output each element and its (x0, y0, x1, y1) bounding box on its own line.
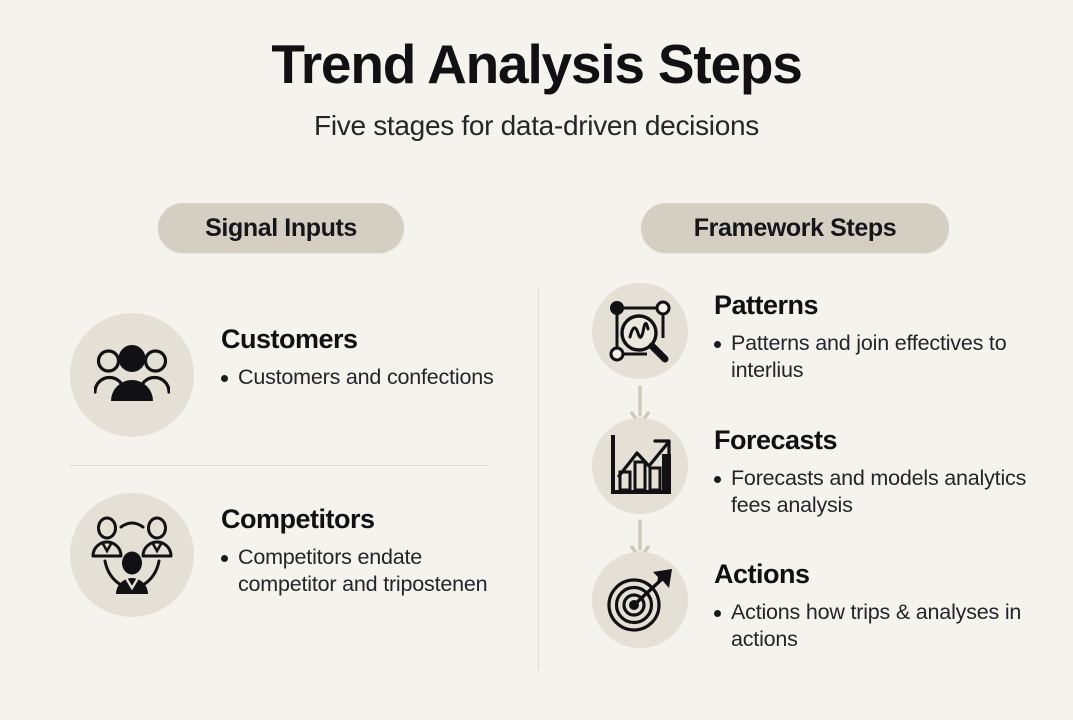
column-divider (538, 288, 539, 670)
header: Trend Analysis Steps Five stages for dat… (0, 36, 1073, 142)
item-text-block: Customers Customers and confections (221, 313, 494, 391)
list-item-actions[interactable]: Actions Actions how trips & analyses in … (592, 552, 1052, 653)
item-bullet-text: Forecasts and models analytics fees anal… (731, 465, 1052, 520)
page-subtitle: Five stages for data-driven decisions (0, 110, 1073, 142)
item-bullet-text: Patterns and join effectives to interliu… (731, 330, 1052, 385)
list-item-forecasts[interactable]: Forecasts Forecasts and models analytics… (592, 418, 1052, 519)
bullet-row: Customers and confections (221, 364, 494, 391)
section-pill-label: Signal Inputs (205, 214, 357, 243)
section-pill-label: Framework Steps (694, 214, 896, 243)
item-bullet-text: Actions how trips & analyses in actions (731, 599, 1052, 654)
bullet-dot-icon (714, 341, 721, 348)
left-column-item-divider (70, 465, 488, 466)
icon-badge (70, 313, 194, 437)
item-bullet-text: Competitors endate competitor and tripos… (238, 544, 510, 599)
item-heading: Customers (221, 325, 494, 355)
item-text-block: Patterns Patterns and join effectives to… (714, 283, 1052, 384)
item-heading: Actions (714, 560, 1052, 590)
target-arrow-icon (606, 567, 674, 633)
bullet-dot-icon (714, 610, 721, 617)
item-heading: Forecasts (714, 426, 1052, 456)
people-group-icon (94, 344, 170, 406)
list-item-customers[interactable]: Customers Customers and confections (70, 313, 510, 437)
icon-badge (70, 493, 194, 617)
list-item-patterns[interactable]: Patterns Patterns and join effectives to… (592, 283, 1052, 384)
bullet-row: Forecasts and models analytics fees anal… (714, 465, 1052, 520)
item-heading: Patterns (714, 291, 1052, 321)
network-magnifier-icon (607, 298, 673, 364)
section-pill-framework-steps[interactable]: Framework Steps (641, 203, 949, 253)
bullet-dot-icon (221, 375, 228, 382)
bar-chart-trend-icon (607, 434, 673, 498)
bullet-row: Patterns and join effectives to interliu… (714, 330, 1052, 385)
infographic-canvas: Trend Analysis Steps Five stages for dat… (0, 0, 1073, 720)
bullet-dot-icon (221, 555, 228, 562)
bullet-dot-icon (714, 476, 721, 483)
section-pill-signal-inputs[interactable]: Signal Inputs (158, 203, 404, 253)
item-bullet-text: Customers and confections (238, 364, 494, 391)
icon-badge (592, 552, 688, 648)
item-heading: Competitors (221, 505, 510, 535)
item-text-block: Actions Actions how trips & analyses in … (714, 552, 1052, 653)
item-text-block: Competitors Competitors endate competito… (221, 493, 510, 598)
bullet-row: Competitors endate competitor and tripos… (221, 544, 510, 599)
page-title: Trend Analysis Steps (0, 36, 1073, 94)
item-text-block: Forecasts Forecasts and models analytics… (714, 418, 1052, 519)
icon-badge (592, 418, 688, 514)
bullet-row: Actions how trips & analyses in actions (714, 599, 1052, 654)
icon-badge (592, 283, 688, 379)
competitors-network-icon (91, 515, 173, 595)
list-item-competitors[interactable]: Competitors Competitors endate competito… (70, 493, 510, 617)
